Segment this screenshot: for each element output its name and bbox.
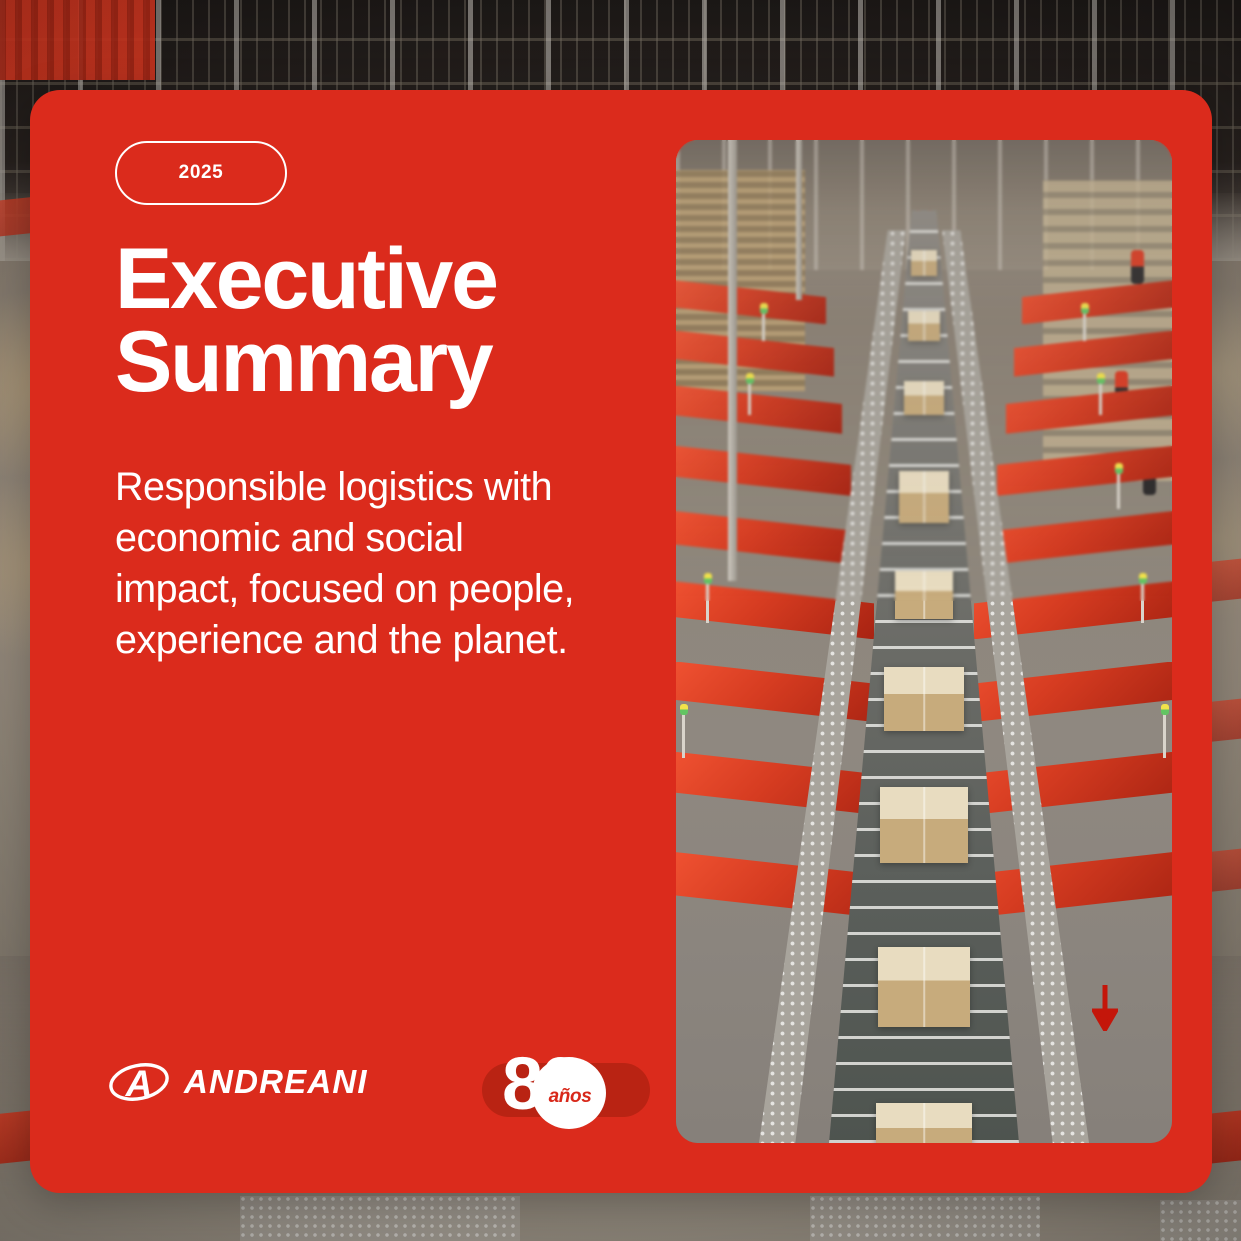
svg-text:A: A (125, 1063, 153, 1104)
page-subtitle-line-1: Responsible logistics with (115, 462, 660, 513)
anniversary-badge: 80 años (474, 1045, 650, 1129)
hero-photo (676, 140, 1172, 1143)
photo-indicator-post (682, 712, 685, 758)
photo-parcel (908, 311, 940, 341)
year-badge: 2025 (115, 141, 287, 205)
page-subtitle-line-2: economic and social (115, 513, 660, 564)
photo-indicator-post (1163, 712, 1166, 758)
anniversary-label: años (538, 1086, 602, 1108)
photo-parcel (904, 381, 944, 415)
photo-indicator-post (748, 381, 751, 415)
page-subtitle-line-3: impact, focused on people, (115, 564, 660, 615)
photo-parcel (884, 667, 964, 731)
page-title: Executive Summary (115, 238, 675, 405)
photo-parcel (895, 571, 953, 619)
photo-parcel (899, 471, 949, 523)
page-title-line-2: Summary (115, 321, 675, 404)
photo-box-stack (1043, 180, 1172, 481)
photo-indicator-post (1099, 381, 1102, 415)
photo-column (728, 140, 737, 581)
andreani-wordmark: ANDREANI (184, 1063, 368, 1101)
page-subtitle: Responsible logistics with economic and … (115, 462, 660, 667)
down-arrow-icon (1092, 985, 1118, 1031)
content-card: 2025 Executive Summary Responsible logis… (30, 90, 1212, 1193)
photo-indicator-post (1083, 311, 1086, 341)
andreani-a-ellipse-icon: A (108, 1059, 170, 1105)
photo-parcel (878, 947, 970, 1027)
photo-parcel (911, 250, 937, 276)
andreani-logo: A ANDREANI (108, 1059, 368, 1105)
page-subtitle-line-4: experience and the planet. (115, 615, 660, 666)
photo-parcel (876, 1103, 972, 1143)
photo-column (796, 140, 802, 300)
photo-indicator-post (762, 311, 765, 341)
poster-canvas: 2025 Executive Summary Responsible logis… (0, 0, 1241, 1241)
photo-indicator-post (1141, 581, 1144, 623)
brand-row: A ANDREANI 80 años (108, 1051, 668, 1123)
photo-indicator-post (706, 581, 709, 623)
photo-parcel (880, 787, 968, 863)
photo-indicator-post (1117, 471, 1120, 509)
photo-worker (1131, 250, 1144, 284)
page-title-line-1: Executive (115, 238, 675, 321)
